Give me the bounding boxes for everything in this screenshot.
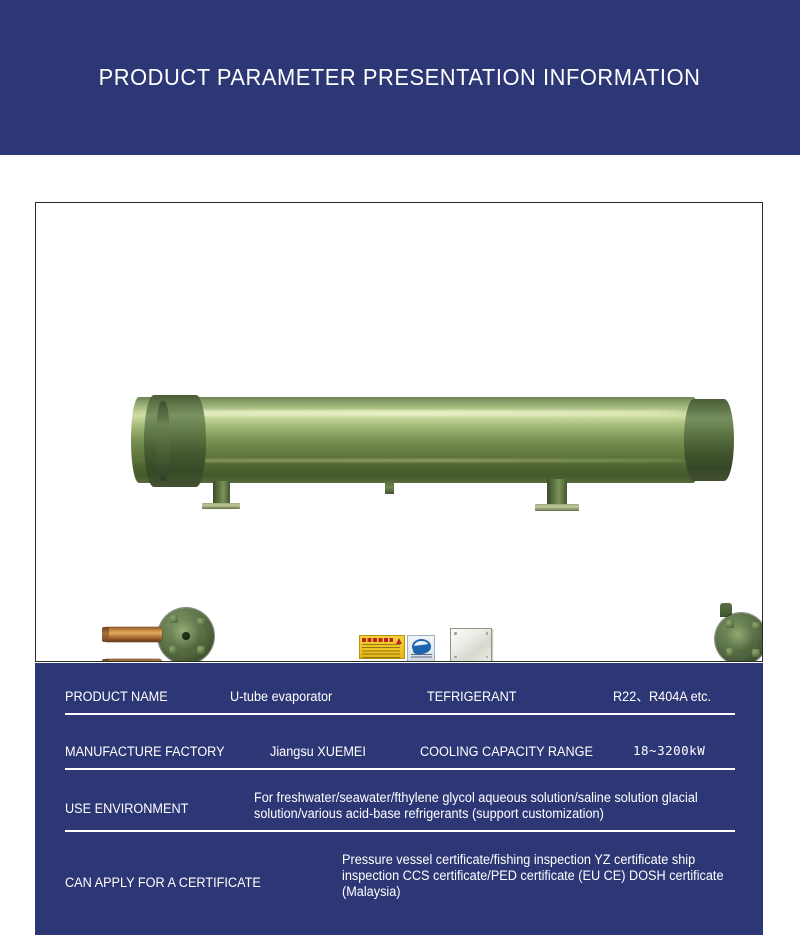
product-image-frame — [35, 202, 763, 662]
table-row: MANUFACTURE FACTORY Jiangsu XUEMEI COOLI… — [35, 718, 763, 773]
left-flange-bolt — [169, 646, 177, 654]
shell-highlight — [131, 410, 701, 416]
copper-tube-cap — [102, 627, 109, 642]
spec-value-refrigerant: R22、R404A etc. — [613, 689, 711, 705]
copper-tube-connection — [104, 627, 162, 642]
left-flange-bolt — [197, 646, 205, 654]
left-flange-hub — [182, 632, 190, 640]
right-end-head — [684, 399, 734, 481]
copper-tube-cap — [102, 659, 109, 662]
page-title: PRODUCT PARAMETER PRESENTATION INFORMATI… — [99, 64, 701, 91]
page-header: PRODUCT PARAMETER PRESENTATION INFORMATI… — [0, 0, 800, 155]
spec-value-cooling-capacity: 18~3200kW — [633, 743, 705, 759]
right-flange-bolt — [752, 649, 760, 657]
warning-label-decal — [359, 635, 405, 659]
spec-label-refrigerant: TEFRIGERANT — [427, 689, 517, 705]
row-divider — [65, 768, 735, 770]
product-photo — [36, 203, 763, 662]
spec-value-certificate: Pressure vessel certificate/fishing insp… — [342, 852, 746, 900]
nameplate-decal — [450, 628, 492, 662]
left-flange-bolt — [170, 615, 178, 623]
spec-label-manufacture-factory: MANUFACTURE FACTORY — [65, 744, 225, 760]
copper-tube-connection — [104, 659, 162, 662]
right-flange-bolt — [752, 622, 760, 630]
spec-value-product-name: U-tube evaporator — [230, 689, 332, 705]
row-divider — [65, 713, 735, 715]
specification-table: PRODUCT NAME U-tube evaporator TEFRIGERA… — [35, 663, 763, 935]
product-parameter-page: PRODUCT PARAMETER PRESENTATION INFORMATI… — [0, 0, 800, 949]
row-divider — [65, 830, 735, 832]
table-row: USE ENVIRONMENT For freshwater/seawater/… — [35, 773, 763, 835]
spec-value-manufacture-factory: Jiangsu XUEMEI — [270, 744, 366, 760]
certification-sticker-decal — [407, 635, 435, 662]
right-flange-bolt — [726, 620, 734, 628]
spec-label-product-name: PRODUCT NAME — [65, 689, 168, 705]
shell-lower-highlight — [131, 459, 701, 462]
right-flange-bolt — [726, 648, 734, 656]
table-row: CAN APPLY FOR A CERTIFICATE Pressure ves… — [35, 835, 763, 935]
left-head-collar — [156, 401, 170, 481]
spec-label-use-environment: USE ENVIRONMENT — [65, 801, 188, 817]
spec-label-cooling-capacity: COOLING CAPACITY RANGE — [420, 744, 593, 760]
spec-label-certificate: CAN APPLY FOR A CERTIFICATE — [65, 875, 261, 891]
spec-value-use-environment: For freshwater/seawater/fthylene glycol … — [254, 790, 715, 822]
center-drain-boss — [385, 481, 394, 494]
evaporator-shell — [131, 397, 701, 483]
left-end-head — [144, 395, 206, 487]
table-row: PRODUCT NAME U-tube evaporator TEFRIGERA… — [35, 663, 763, 718]
left-flange-bolt — [197, 618, 205, 626]
